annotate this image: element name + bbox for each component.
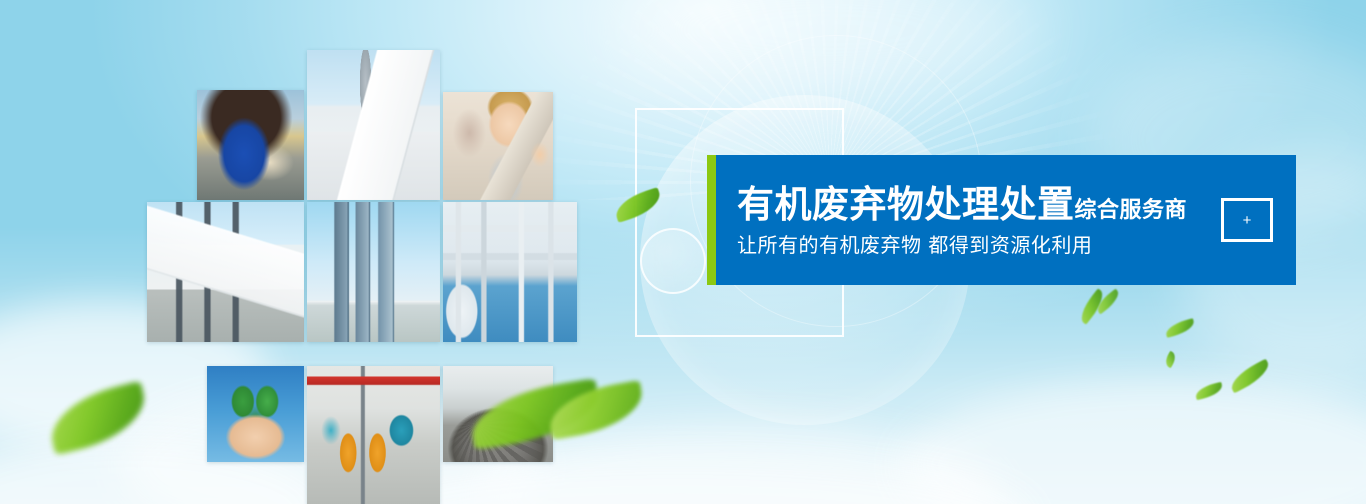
worker-photo xyxy=(197,90,304,200)
banner-accent-bar xyxy=(707,155,716,285)
headline-sub: 综合服务商 xyxy=(1075,198,1188,223)
headline-main: 有机废弃物处理处置 xyxy=(737,183,1075,226)
industrial-plant-photo xyxy=(443,202,577,342)
mosaic-tile-city[interactable] xyxy=(307,202,440,342)
banner-stage: 有机废弃物处理处置综合服务商 让所有的有机废弃物 都得到资源化利用 + xyxy=(0,0,1366,504)
headline-banner: 有机废弃物处理处置综合服务商 让所有的有机废弃物 都得到资源化利用 xyxy=(707,155,1296,285)
machinery-photo xyxy=(307,366,440,504)
headline: 有机废弃物处理处置综合服务商 xyxy=(737,186,1296,223)
factory-photo xyxy=(147,202,304,342)
green-heart-photo xyxy=(207,366,304,462)
photo-mosaic xyxy=(197,50,557,460)
bubble-ring-decoration xyxy=(640,228,706,294)
mosaic-tile-worker[interactable] xyxy=(197,90,304,200)
plant-photo xyxy=(307,50,440,200)
banner-text-block: 有机废弃物处理处置综合服务商 让所有的有机废弃物 都得到资源化利用 xyxy=(737,186,1296,255)
mosaic-tile-plant[interactable] xyxy=(307,50,440,200)
mosaic-tile-industry[interactable] xyxy=(443,202,577,342)
subheadline: 让所有的有机废弃物 都得到资源化利用 xyxy=(737,235,1296,255)
mosaic-tile-machine[interactable] xyxy=(307,366,440,504)
mosaic-tile-heart[interactable] xyxy=(207,366,304,462)
mosaic-tile-woman[interactable] xyxy=(443,92,553,200)
businesswoman-photo xyxy=(443,92,553,200)
mosaic-tile-factory[interactable] xyxy=(147,202,304,342)
sludge-photo xyxy=(443,366,553,462)
expand-plus-button[interactable]: + xyxy=(1221,198,1273,242)
office-towers-photo xyxy=(307,202,440,342)
mosaic-tile-sludge[interactable] xyxy=(443,366,553,462)
